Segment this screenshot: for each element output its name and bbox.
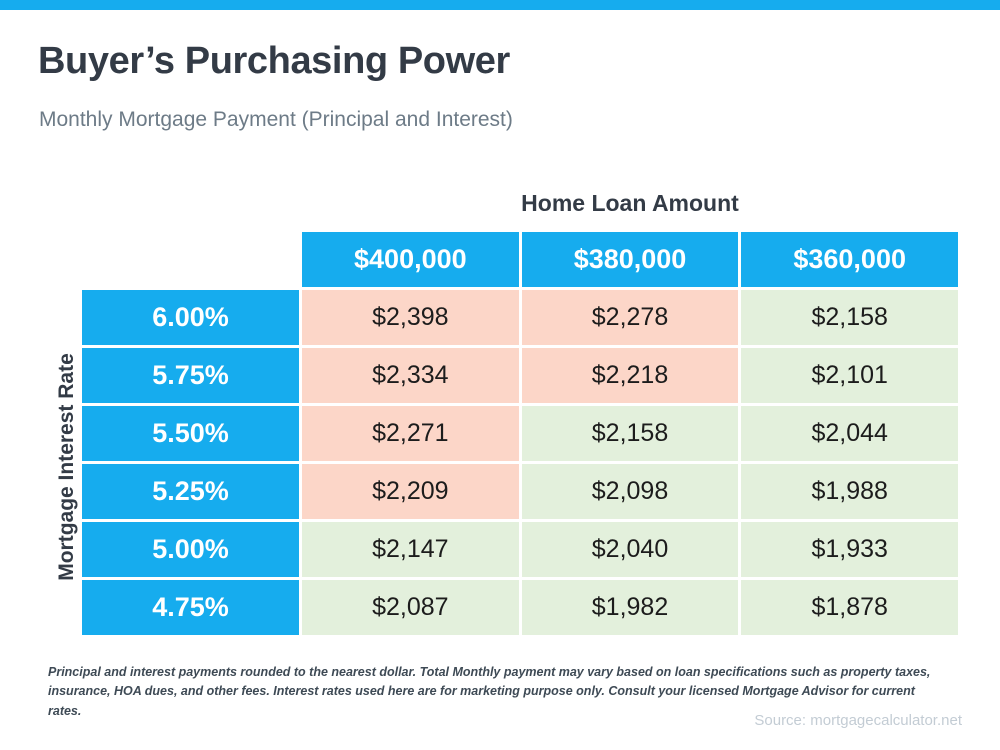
payment-cell: $2,098 [522, 464, 739, 519]
column-header-2: $380,000 [522, 232, 739, 287]
payment-matrix-table: $400,000$380,000$360,0006.00%$2,398$2,27… [82, 232, 958, 632]
payment-cell: $2,101 [741, 348, 958, 403]
infographic-page: Buyer’s Purchasing Power Monthly Mortgag… [0, 0, 1000, 750]
column-header-3: $360,000 [741, 232, 958, 287]
table-row: 4.75%$2,087$1,982$1,878 [82, 580, 958, 635]
column-header-1: $400,000 [302, 232, 519, 287]
payment-cell: $2,398 [302, 290, 519, 345]
payment-cell: $2,147 [302, 522, 519, 577]
payment-cell: $2,271 [302, 406, 519, 461]
payment-cell: $2,044 [741, 406, 958, 461]
payment-cell: $2,087 [302, 580, 519, 635]
row-axis-title: Mortgage Interest Rate [55, 292, 79, 642]
table-row: 6.00%$2,398$2,278$2,158 [82, 290, 958, 345]
source-attribution: Source: mortgagecalculator.net [754, 712, 962, 729]
page-title: Buyer’s Purchasing Power [38, 40, 510, 83]
table-corner-cell [82, 232, 299, 287]
row-header-rate: 4.75% [82, 580, 299, 635]
payment-cell: $1,982 [522, 580, 739, 635]
table-row: 5.75%$2,334$2,218$2,101 [82, 348, 958, 403]
row-header-rate: 5.50% [82, 406, 299, 461]
payment-cell: $2,158 [741, 290, 958, 345]
payment-cell: $2,278 [522, 290, 739, 345]
column-axis-title: Home Loan Amount [302, 190, 958, 217]
table-row: 5.50%$2,271$2,158$2,044 [82, 406, 958, 461]
table-row: 5.00%$2,147$2,040$1,933 [82, 522, 958, 577]
payment-cell: $2,158 [522, 406, 739, 461]
payment-cell: $2,209 [302, 464, 519, 519]
payment-cell: $1,988 [741, 464, 958, 519]
payment-cell: $1,933 [741, 522, 958, 577]
payment-cell: $2,218 [522, 348, 739, 403]
payment-cell: $2,334 [302, 348, 519, 403]
row-header-rate: 5.75% [82, 348, 299, 403]
table-header-row: $400,000$380,000$360,000 [82, 232, 958, 287]
payment-cell: $2,040 [522, 522, 739, 577]
payment-cell: $1,878 [741, 580, 958, 635]
row-header-rate: 5.25% [82, 464, 299, 519]
page-subtitle: Monthly Mortgage Payment (Principal and … [39, 108, 513, 132]
top-accent-bar [0, 0, 1000, 10]
row-header-rate: 6.00% [82, 290, 299, 345]
row-header-rate: 5.00% [82, 522, 299, 577]
table-row: 5.25%$2,209$2,098$1,988 [82, 464, 958, 519]
